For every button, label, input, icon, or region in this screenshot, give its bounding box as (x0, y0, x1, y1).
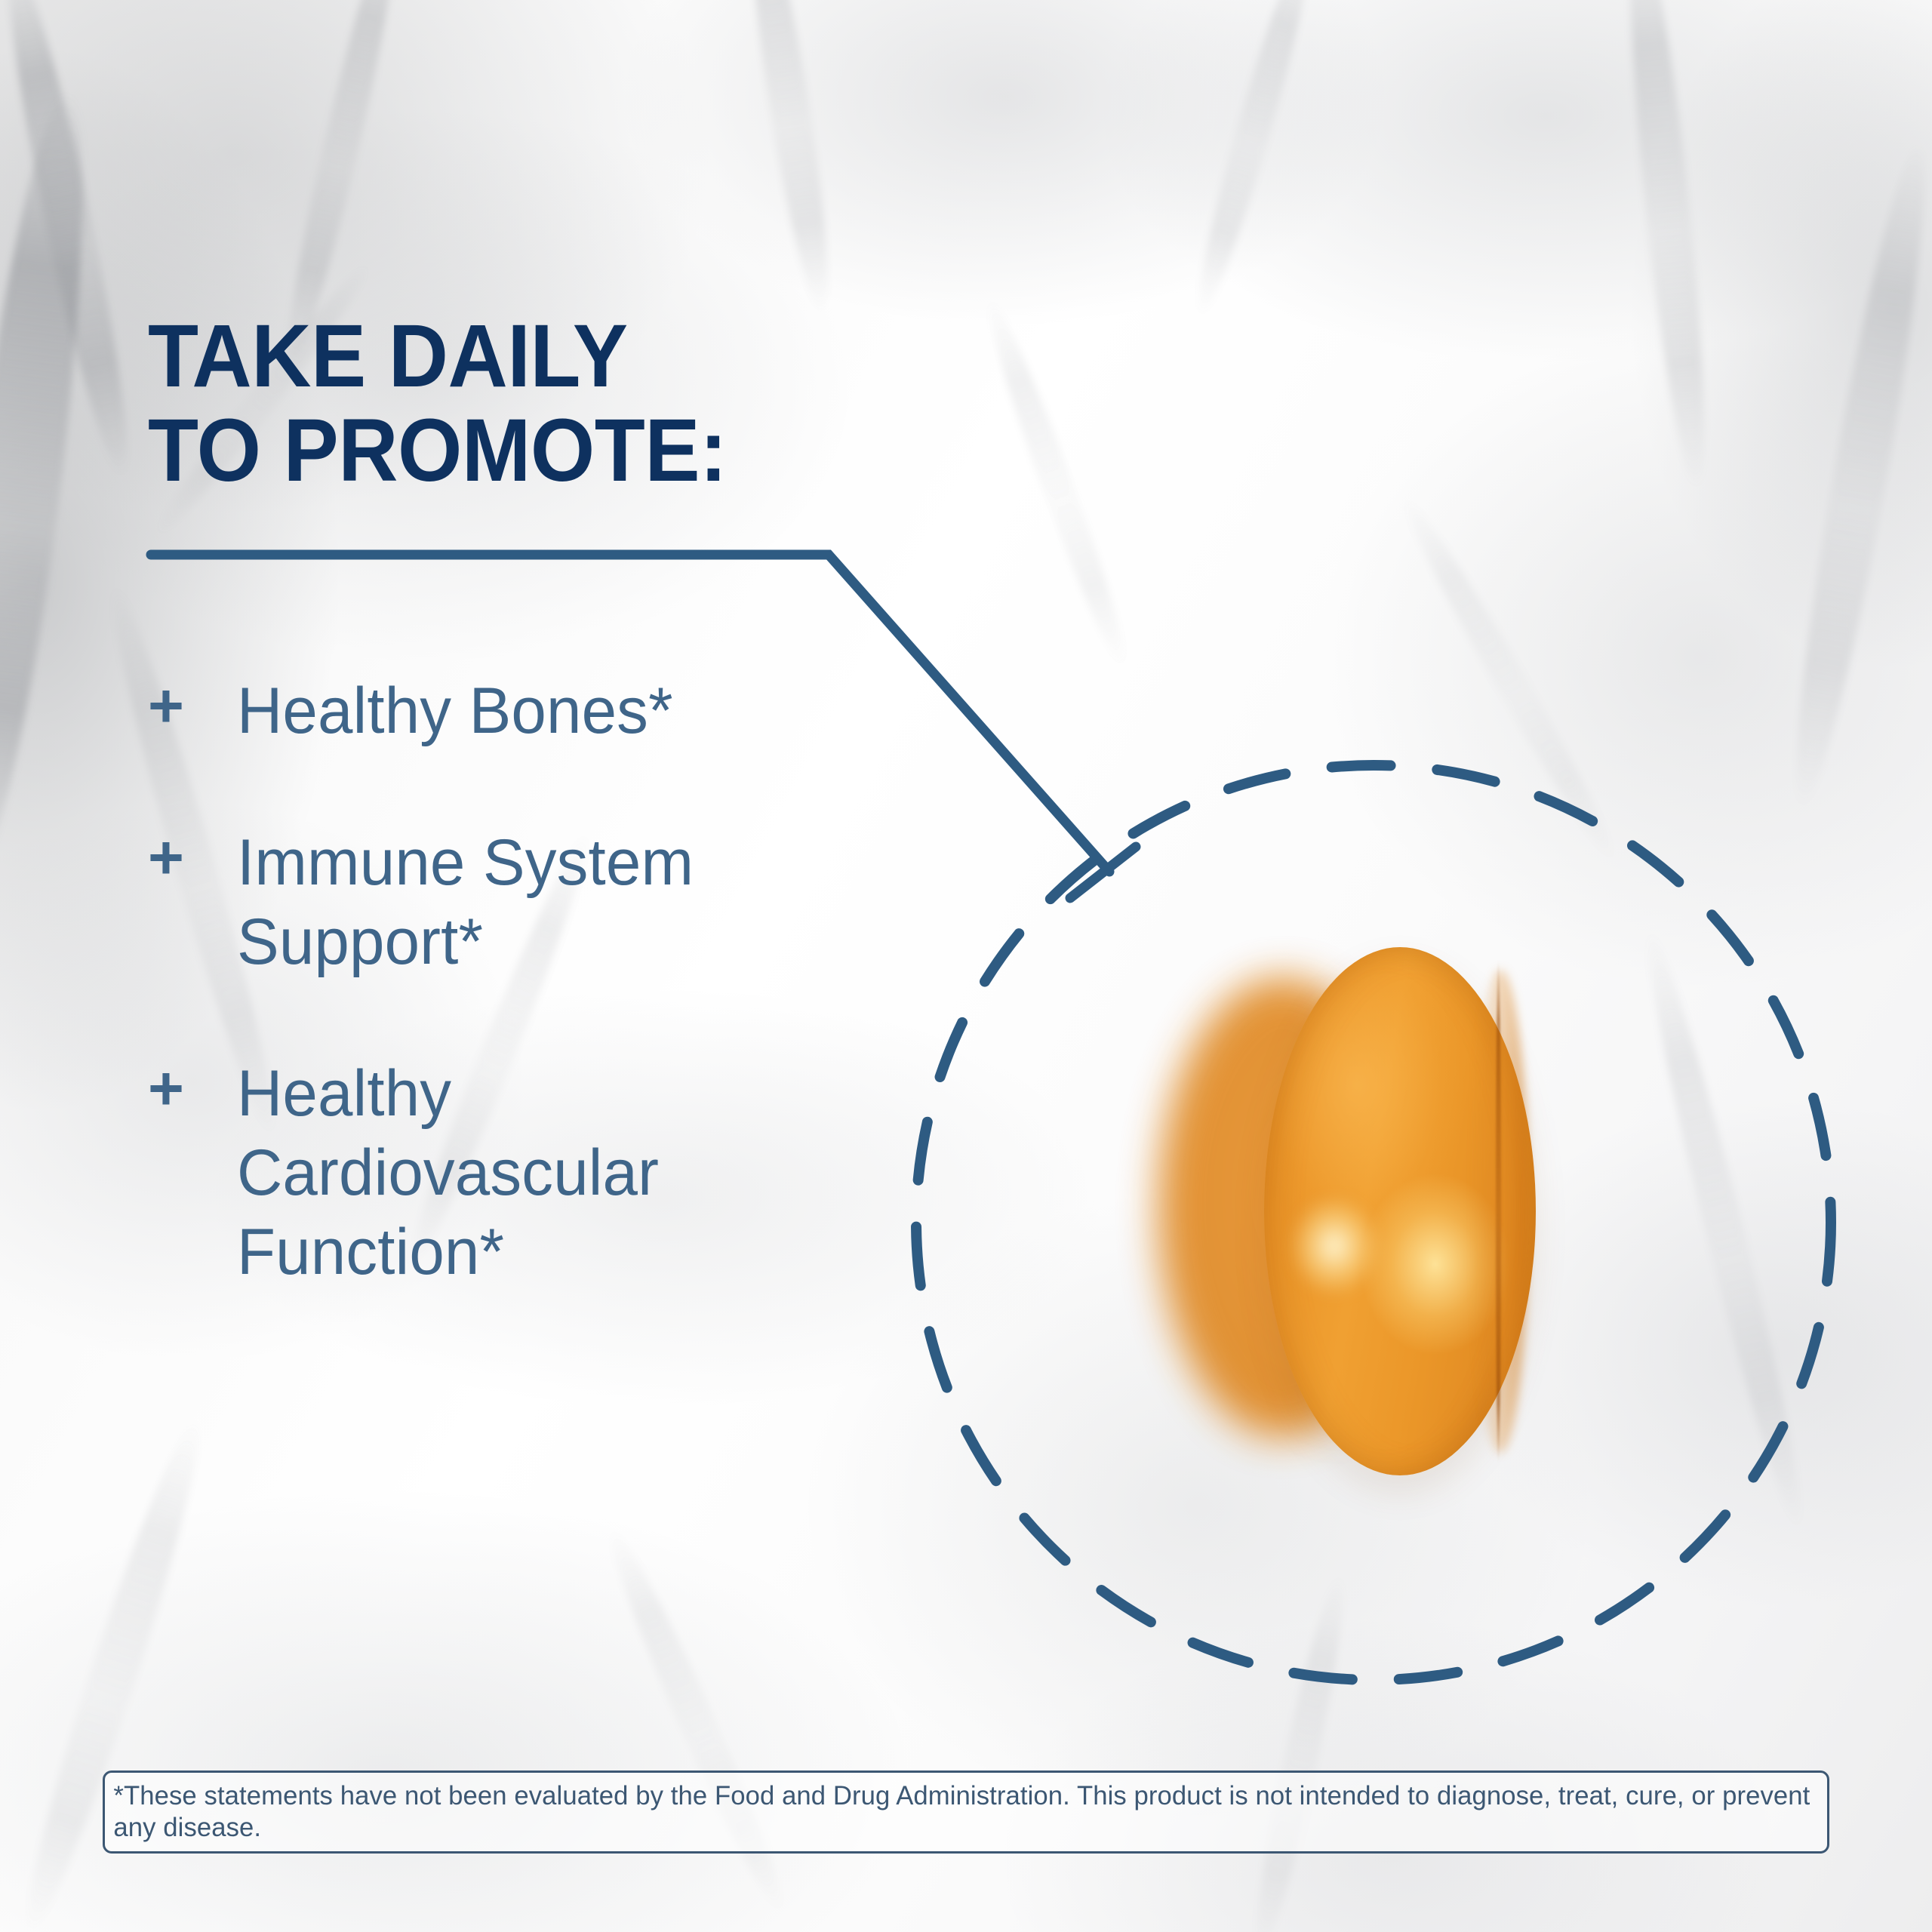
disclaimer-text: *These statements have not been evaluate… (113, 1780, 1818, 1844)
benefits-list: + Healthy Bones* + Immune System Support… (148, 672, 842, 1291)
list-item: + Healthy Bones* (148, 672, 842, 751)
plus-icon: + (148, 823, 237, 893)
plus-icon: + (148, 1054, 237, 1124)
page-title-line-1: TAKE DAILY (148, 306, 628, 406)
product-callout (909, 758, 1838, 1687)
list-item: + Healthy Cardiovascular Function* (148, 1054, 842, 1292)
softgel-highlight (1290, 1196, 1379, 1296)
promo-graphic: TAKE DAILY TO PROMOTE: + Healthy Bones* … (0, 0, 1932, 1932)
page-title-line-2: TO PROMOTE: (148, 404, 990, 498)
disclaimer-box: *These statements have not been evaluate… (103, 1770, 1829, 1854)
benefit-label: Healthy Bones* (237, 672, 824, 751)
softgel-seam (1496, 959, 1501, 1463)
list-item: + Immune System Support* (148, 823, 842, 982)
benefit-label: Immune System Support* (237, 823, 824, 982)
softgel-capsule (1158, 947, 1536, 1475)
plus-icon: + (148, 672, 237, 741)
benefit-label: Healthy Cardiovascular Function* (237, 1054, 824, 1292)
page-title: TAKE DAILY TO PROMOTE: (148, 309, 990, 498)
